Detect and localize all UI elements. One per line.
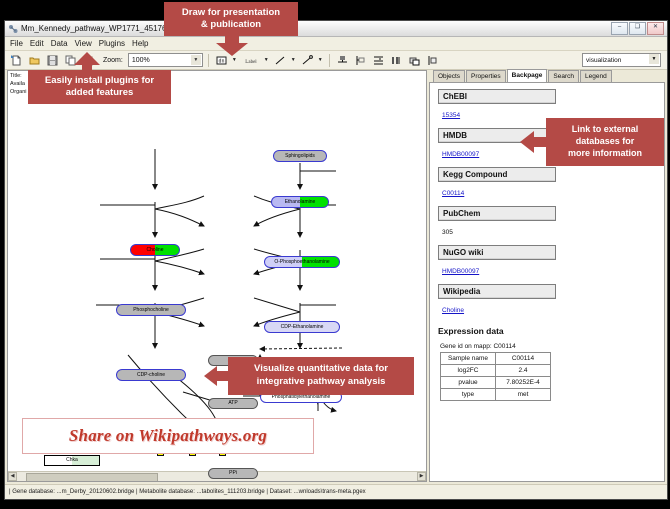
annotation-install-plugins-line1: Easily install plugins for <box>36 75 163 87</box>
chevron-down-icon[interactable]: ▼ <box>264 57 269 63</box>
menu-item-view[interactable]: View <box>75 39 92 48</box>
annotation-external-links-line3: more information <box>554 147 656 159</box>
menu-item-edit[interactable]: Edit <box>30 39 44 48</box>
toolbar-separator <box>208 54 209 67</box>
db-link-nugo-wiki[interactable]: HMDB00097 <box>442 268 479 275</box>
annotation-share-wikipathways-text: Share on Wikipathways.org <box>69 426 267 446</box>
expression-data-heading: Expression data <box>438 326 656 336</box>
minimize-button[interactable]: – <box>611 22 628 35</box>
annotation-external-links: Link to external databases for more info… <box>546 118 664 166</box>
db-link-wikipedia[interactable]: Choline <box>442 307 464 314</box>
annotation-arrow-down-presentation <box>214 34 250 56</box>
zoom-combobox[interactable]: 100% ▼ <box>128 53 203 67</box>
pathway-node-ppi[interactable]: PPi <box>208 468 258 479</box>
annotation-draw-presentation-line2: & publication <box>172 19 290 31</box>
svg-text:Label: Label <box>245 60 257 65</box>
tab-backpage[interactable]: Backpage <box>507 69 548 82</box>
status-bar-text: | Gene database: ...m_Derby_20120602.bri… <box>9 489 366 495</box>
db-link-hmdb[interactable]: HMDB00097 <box>442 151 479 158</box>
svg-text:dn: dn <box>218 58 224 64</box>
pathway-node-chka[interactable]: Chka <box>44 455 100 466</box>
pathway-node-ethanolamine[interactable]: Ethanolamine <box>271 196 329 208</box>
window-controls: – ❑ ✕ <box>611 22 664 35</box>
close-button[interactable]: ✕ <box>647 22 664 35</box>
expr-val-log2fc: 2.4 <box>496 365 551 377</box>
zoom-value: 100% <box>132 57 150 64</box>
annotation-external-links-line2: databases for <box>554 135 656 147</box>
annotation-draw-presentation-line1: Draw for presentation <box>172 7 290 19</box>
save-icon[interactable] <box>45 53 60 68</box>
visualization-combobox[interactable]: visualization ▼ <box>582 53 661 67</box>
annotation-arrow-left-external-links <box>520 130 548 154</box>
align-top-icon[interactable] <box>335 53 350 68</box>
chevron-down-icon[interactable]: ▼ <box>191 55 201 65</box>
send-to-back-icon[interactable] <box>425 53 440 68</box>
pathway-node-atp[interactable]: ATP <box>208 398 258 409</box>
annotation-arrow-left-visualize <box>204 365 230 387</box>
title-bar: Mm_Kennedy_pathway_WP1771_45176.gpml – ❑… <box>5 21 667 37</box>
status-bar: | Gene database: ...m_Derby_20120602.bri… <box>5 484 667 499</box>
chevron-down-icon[interactable]: ▼ <box>318 57 323 63</box>
table-row: Sample name C00114 <box>441 353 551 365</box>
chevron-down-icon[interactable]: ▼ <box>291 57 296 63</box>
annotation-visualize-data: Visualize quantitative data for integrat… <box>228 357 414 395</box>
db-header-kegg-compound: Kegg Compound <box>438 167 556 182</box>
bring-to-front-icon[interactable] <box>407 53 422 68</box>
annotation-arrow-up-plugins <box>73 52 101 74</box>
align-left-icon[interactable] <box>353 53 368 68</box>
chevron-down-icon[interactable]: ▼ <box>649 54 659 64</box>
expr-key-pvalue: pvalue <box>441 377 496 389</box>
table-row: log2FC 2.4 <box>441 365 551 377</box>
expression-table: Sample name C00114 log2FC 2.4 pvalue 7.8… <box>440 352 551 401</box>
pathway-node-choline[interactable]: Choline <box>130 244 180 256</box>
expr-key-sample-name: Sample name <box>441 353 496 365</box>
tab-search[interactable]: Search <box>548 70 579 82</box>
expr-key-log2fc: log2FC <box>441 365 496 377</box>
gene-id-label: Gene id on mapp: C00114 <box>440 343 656 350</box>
expr-val-pvalue: 7.80252E-4 <box>496 377 551 389</box>
zoom-label: Zoom: <box>103 57 123 64</box>
db-value-pubchem: 305 <box>442 229 453 236</box>
pathway-node-sphingolipids[interactable]: Sphingolipids <box>273 150 327 162</box>
toolbar-separator <box>329 54 330 67</box>
side-panel-tabs: Objects Properties Backpage Search Legen… <box>429 70 665 82</box>
pathway-node-cdp-ethanolamine[interactable]: CDP-Ethanolamine <box>264 321 340 333</box>
pathway-node-cdp-choline[interactable]: CDP-choline <box>116 369 186 381</box>
distribute-vertical-icon[interactable] <box>371 53 386 68</box>
annotation-external-links-line1: Link to external <box>554 123 656 135</box>
db-header-wikipedia: Wikipedia <box>438 284 556 299</box>
db-header-chebi: ChEBI <box>438 89 556 104</box>
menu-item-file[interactable]: File <box>10 39 23 48</box>
chevron-down-icon[interactable]: ▼ <box>232 57 237 63</box>
screenshot-root: Mm_Kennedy_pathway_WP1771_45176.gpml – ❑… <box>0 0 670 509</box>
annotation-share-wikipathways: Share on Wikipathways.org <box>22 418 314 454</box>
expr-key-type: type <box>441 389 496 401</box>
receptor-line-icon[interactable] <box>300 53 315 68</box>
db-header-pubchem: PubChem <box>438 206 556 221</box>
same-width-icon[interactable] <box>389 53 404 68</box>
tab-properties[interactable]: Properties <box>466 70 506 82</box>
menu-item-help[interactable]: Help <box>132 39 148 48</box>
tab-legend[interactable]: Legend <box>580 70 612 82</box>
db-link-kegg-compound[interactable]: C00114 <box>442 190 464 197</box>
annotation-visualize-data-line2: integrative pathway analysis <box>236 375 406 388</box>
expr-val-type: met <box>496 389 551 401</box>
pathway-node-phosphocholine[interactable]: Phosphocholine <box>116 304 186 316</box>
new-file-icon[interactable] <box>9 53 24 68</box>
line-icon[interactable] <box>273 53 288 68</box>
open-folder-icon[interactable] <box>27 53 42 68</box>
table-row: type met <box>441 389 551 401</box>
annotation-draw-presentation: Draw for presentation & publication <box>164 2 298 36</box>
pathvisio-app-icon <box>8 24 18 34</box>
table-row: pvalue 7.80252E-4 <box>441 377 551 389</box>
annotation-visualize-data-line1: Visualize quantitative data for <box>236 362 406 375</box>
expr-val-sample-name: C00114 <box>496 353 551 365</box>
visualization-value: visualization <box>586 57 621 64</box>
annotation-install-plugins: Easily install plugins for added feature… <box>28 70 171 104</box>
annotation-install-plugins-line2: added features <box>36 87 163 99</box>
tab-objects[interactable]: Objects <box>433 70 465 82</box>
menu-bar: File Edit Data View Plugins Help <box>5 37 667 51</box>
menu-item-data[interactable]: Data <box>51 39 68 48</box>
maximize-button[interactable]: ❑ <box>629 22 646 35</box>
db-header-nugo-wiki: NuGO wiki <box>438 245 556 260</box>
menu-item-plugins[interactable]: Plugins <box>99 39 125 48</box>
db-link-chebi[interactable]: 15354 <box>442 112 460 119</box>
pathway-node-o-phosphoethanolamine[interactable]: O-Phosphoethanolamine <box>264 256 340 268</box>
window-title: Mm_Kennedy_pathway_WP1771_45176.gpml <box>21 24 186 33</box>
